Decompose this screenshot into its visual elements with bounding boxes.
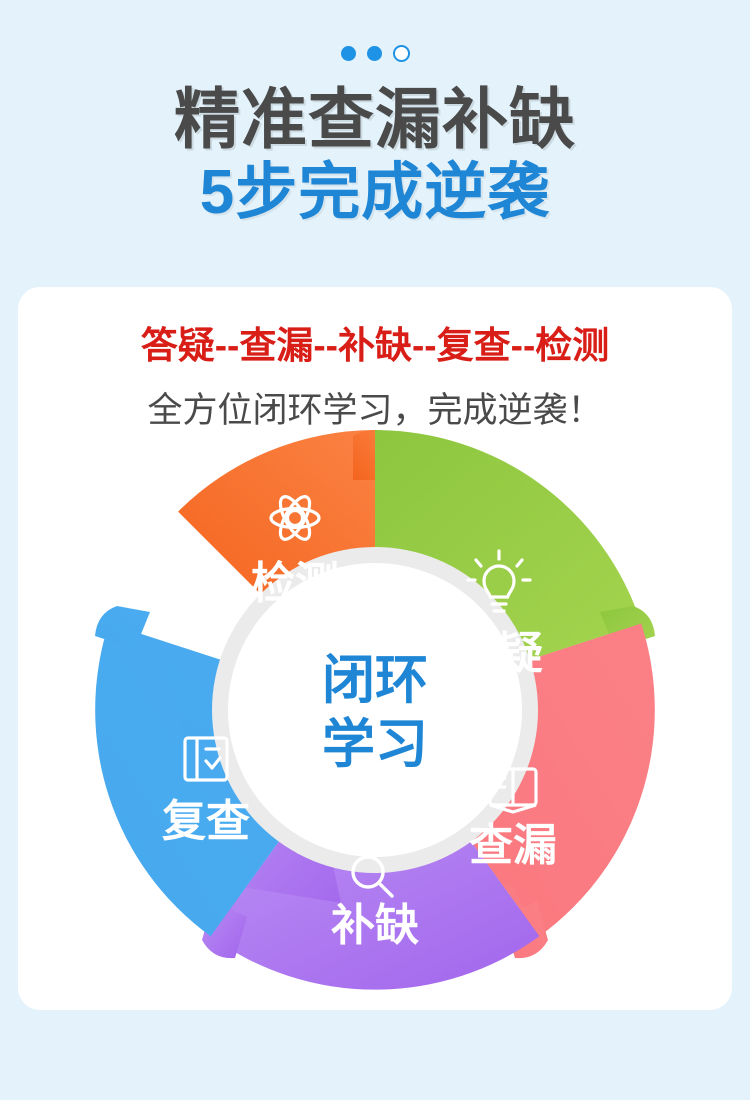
card-subtitle-steps: 答疑--查漏--补缺--复查--检测 [18,315,732,369]
page-title: 精准查漏补缺 5步完成逆袭 [0,86,750,225]
content-card: 答疑--查漏--补缺--复查--检测 全方位闭环学习，完成逆袭！ [18,287,732,1010]
page-dot-3[interactable] [393,45,410,62]
cycle-center-line-1: 闭环 [322,651,428,710]
cycle-segment-label-chalou: 查漏 [469,821,557,870]
page-dot-2[interactable] [367,46,382,61]
cycle-segment-label-jiance: 检测 [251,559,339,608]
headline-line-2: 5步完成逆袭 [0,161,750,224]
cycle-center-line-2: 学习 [322,715,428,774]
page-dots [0,45,750,62]
page-dot-1[interactable] [341,46,356,61]
cycle-segment-label-buque: 补缺 [331,901,419,950]
cycle-segment-label-fucha: 复查 [162,797,250,846]
closed-loop-cycle-diagram: 闭环 学习 检测 答疑 [85,420,665,1000]
headline-line-1: 精准查漏补缺 [0,86,750,153]
cycle-segment-label-dayi: 答疑 [455,629,543,678]
card-heading: 答疑--查漏--补缺--复查--检测 全方位闭环学习，完成逆袭！ [18,315,732,433]
